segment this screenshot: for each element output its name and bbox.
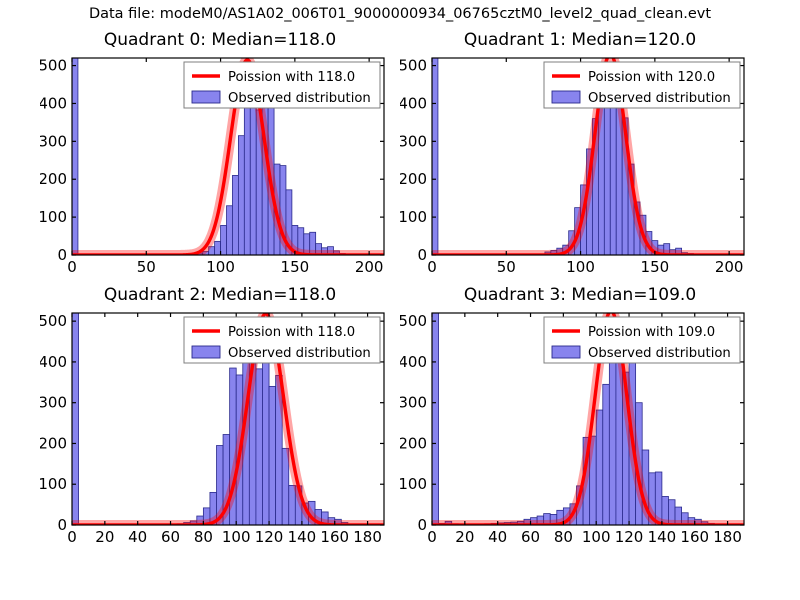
legend[interactable]: Poission with 118.0Observed distribution (184, 317, 380, 363)
x-tick-label: 100 (582, 528, 611, 546)
panel-quadrant-3: Quadrant 3: Median=109.0 020406080100120… (400, 285, 760, 555)
y-tick-label: 100 (40, 208, 67, 226)
legend-label: Poission with 118.0 (228, 325, 355, 340)
x-tick-label: 60 (521, 528, 540, 546)
histogram-bar (221, 225, 227, 255)
x-tick-label: 40 (488, 528, 507, 546)
legend-patch-swatch (192, 91, 220, 103)
legend-label: Observed distribution (228, 346, 371, 361)
figure-canvas: Data file: modeM0/AS1A02_006T01_90000009… (0, 0, 800, 600)
legend-patch-swatch (552, 346, 580, 358)
x-tick-label: 20 (455, 528, 474, 546)
panel-quadrant-1: Quadrant 1: Median=120.0 050100150200010… (400, 30, 760, 285)
x-tick-label: 180 (353, 528, 382, 546)
histogram-bar (432, 313, 439, 525)
histogram-bar (596, 410, 603, 525)
panel-title: Quadrant 3: Median=109.0 (400, 285, 760, 305)
plot-area: 0501001502000100200300400500Poission wit… (40, 30, 400, 285)
plot-area: 0204060801001201401601800100200300400500… (400, 285, 760, 555)
x-tick-label: 200 (715, 258, 744, 276)
histogram-bar (432, 58, 438, 255)
y-tick-label: 100 (400, 475, 427, 493)
y-tick-label: 100 (40, 475, 67, 493)
chart-svg-quadrant-3: 0204060801001201401601800100200300400500… (400, 285, 760, 555)
y-tick-label: 200 (400, 170, 427, 188)
x-tick-label: 140 (288, 528, 317, 546)
x-tick-label: 160 (320, 528, 349, 546)
y-tick-label: 500 (400, 57, 427, 75)
histogram-bar (238, 136, 244, 255)
panel-quadrant-0: Quadrant 0: Median=118.0 050100150200010… (40, 30, 400, 285)
x-tick-label: 100 (566, 258, 595, 276)
x-tick-label: 0 (427, 258, 437, 276)
y-tick-label: 0 (57, 516, 67, 534)
x-tick-label: 120 (615, 528, 644, 546)
histogram-bar (232, 175, 238, 255)
chart-svg-quadrant-2: 0204060801001201401601800100200300400500… (40, 285, 400, 555)
legend[interactable]: Poission with 118.0Observed distribution (184, 62, 380, 108)
histogram-bar (227, 206, 233, 255)
x-tick-label: 50 (137, 258, 156, 276)
histogram-bar (269, 386, 276, 525)
y-tick-label: 400 (400, 94, 427, 112)
x-tick-label: 60 (161, 528, 180, 546)
legend-label: Poission with 118.0 (228, 70, 355, 85)
y-tick-label: 200 (400, 434, 427, 452)
legend-patch-swatch (192, 346, 220, 358)
y-tick-label: 500 (40, 57, 67, 75)
x-tick-label: 0 (67, 258, 77, 276)
histogram-bar (244, 100, 250, 255)
y-tick-label: 200 (40, 170, 67, 188)
legend-label: Observed distribution (228, 91, 371, 106)
x-tick-label: 80 (194, 528, 213, 546)
histogram-bar (72, 313, 79, 525)
y-tick-label: 300 (40, 394, 67, 412)
x-tick-label: 150 (641, 258, 670, 276)
y-tick-label: 300 (400, 132, 427, 150)
x-tick-label: 0 (427, 528, 437, 546)
x-tick-label: 100 (222, 528, 251, 546)
legend-label: Poission with 109.0 (588, 325, 715, 340)
chart-svg-quadrant-1: 0501001502000100200300400500Poission wit… (400, 30, 760, 285)
y-tick-label: 400 (40, 94, 67, 112)
legend-label: Observed distribution (588, 346, 731, 361)
x-tick-label: 140 (648, 528, 677, 546)
figure-suptitle: Data file: modeM0/AS1A02_006T01_90000009… (0, 6, 800, 22)
x-tick-label: 20 (95, 528, 114, 546)
histogram-bar (289, 485, 296, 525)
y-tick-label: 300 (40, 132, 67, 150)
x-tick-label: 100 (206, 258, 235, 276)
legend-label: Poission with 120.0 (588, 70, 715, 85)
y-tick-label: 200 (40, 434, 67, 452)
chart-svg-quadrant-0: 0501001502000100200300400500Poission wit… (40, 30, 400, 285)
plot-area: 0204060801001201401601800100200300400500… (40, 285, 400, 555)
x-tick-label: 160 (680, 528, 709, 546)
y-tick-label: 500 (40, 312, 67, 330)
x-tick-label: 0 (67, 528, 77, 546)
x-tick-label: 120 (255, 528, 284, 546)
x-tick-label: 50 (497, 258, 516, 276)
y-tick-label: 300 (400, 394, 427, 412)
legend[interactable]: Poission with 120.0Observed distribution (544, 62, 740, 108)
legend[interactable]: Poission with 109.0Observed distribution (544, 317, 740, 363)
x-tick-label: 200 (355, 258, 384, 276)
histogram-bar (262, 358, 269, 525)
histogram-bar (256, 369, 263, 525)
legend-patch-swatch (552, 91, 580, 103)
x-tick-label: 80 (554, 528, 573, 546)
x-tick-label: 150 (281, 258, 310, 276)
histogram-bar (282, 448, 289, 525)
histogram-bar (609, 362, 616, 525)
histogram-bar (215, 241, 221, 255)
y-tick-label: 0 (417, 246, 427, 264)
x-tick-label: 180 (713, 528, 742, 546)
y-tick-label: 400 (40, 353, 67, 371)
y-tick-label: 400 (400, 353, 427, 371)
y-tick-label: 500 (400, 312, 427, 330)
y-tick-label: 100 (400, 208, 427, 226)
panel-title: Quadrant 1: Median=120.0 (400, 30, 760, 50)
panel-title: Quadrant 0: Median=118.0 (40, 30, 400, 50)
panel-quadrant-2: Quadrant 2: Median=118.0 020406080100120… (40, 285, 400, 555)
x-tick-label: 40 (128, 528, 147, 546)
histogram-bar (72, 58, 78, 255)
histogram-bar (603, 384, 610, 525)
plot-area: 0501001502000100200300400500Poission wit… (400, 30, 760, 285)
y-tick-label: 0 (417, 516, 427, 534)
y-tick-label: 0 (57, 246, 67, 264)
legend-label: Observed distribution (588, 91, 731, 106)
panel-title: Quadrant 2: Median=118.0 (40, 285, 400, 305)
